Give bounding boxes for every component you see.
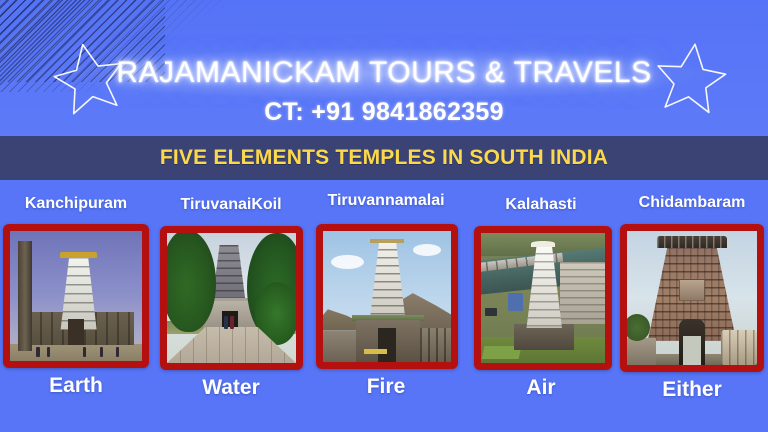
temple-photo bbox=[627, 231, 757, 365]
temple-photo bbox=[323, 231, 451, 362]
temple-place-label: Kanchipuram bbox=[0, 195, 152, 213]
banner-title: FIVE ELEMENTS TEMPLES IN SOUTH INDIA bbox=[160, 146, 608, 170]
temple-photo-frame bbox=[620, 224, 764, 372]
temple-place-label: Tiruvannamalai bbox=[310, 192, 462, 210]
section-banner: FIVE ELEMENTS TEMPLES IN SOUTH INDIA bbox=[0, 136, 768, 180]
temple-element-label: Earth bbox=[0, 374, 152, 398]
poster-header: RAJAMANICKAM TOURS & TRAVELS CT: +91 984… bbox=[0, 0, 768, 136]
temple-place-label: TiruvanaiKoil bbox=[155, 196, 307, 214]
temple-photo-frame bbox=[3, 224, 149, 368]
poster-root: RAJAMANICKAM TOURS & TRAVELS CT: +91 984… bbox=[0, 0, 768, 432]
temple-photo-frame bbox=[160, 226, 303, 370]
temple-place-label: Kalahasti bbox=[465, 196, 617, 214]
temple-photo bbox=[481, 233, 605, 363]
temple-element-label: Either bbox=[616, 378, 768, 402]
temple-element-label: Air bbox=[465, 376, 617, 400]
temple-photo-frame bbox=[316, 224, 458, 369]
temple-element-label: Water bbox=[155, 376, 307, 400]
brand-title: RAJAMANICKAM TOURS & TRAVELS bbox=[0, 56, 768, 90]
temple-card-grid: Kanchipuram bbox=[0, 180, 768, 432]
temple-photo bbox=[167, 233, 296, 363]
contact-phone: CT: +91 9841862359 bbox=[0, 98, 768, 127]
temple-element-label: Fire bbox=[310, 375, 462, 399]
temple-place-label: Chidambaram bbox=[616, 194, 768, 212]
temple-photo bbox=[10, 231, 142, 361]
temple-photo-frame bbox=[474, 226, 612, 370]
